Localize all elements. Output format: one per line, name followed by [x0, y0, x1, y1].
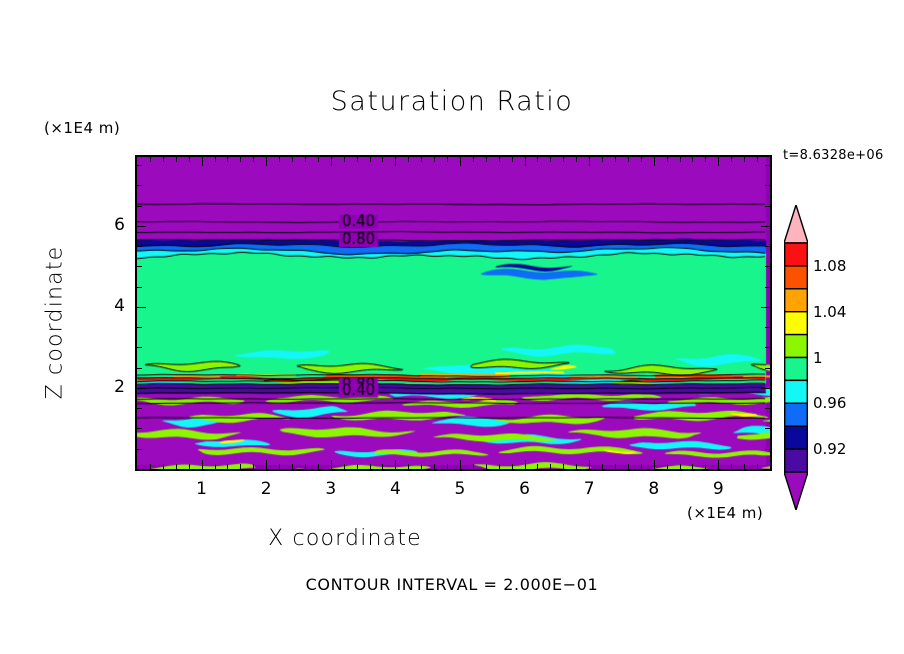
x-minor-tick — [150, 464, 151, 469]
y-minor-tick-right — [765, 206, 770, 207]
x-minor-tick-top — [240, 157, 241, 162]
colorbar-tick-label: 1.08 — [813, 257, 846, 275]
y-minor-tick — [137, 327, 142, 328]
x-minor-tick-top — [641, 157, 642, 162]
colorbar-band — [785, 243, 808, 266]
x-minor-tick-top — [163, 157, 164, 162]
x-major-tick-top — [266, 157, 267, 166]
y-minor-tick — [137, 408, 142, 409]
y-minor-tick-right — [765, 449, 770, 450]
y-major-tick — [137, 388, 146, 389]
x-major-tick — [395, 460, 396, 469]
x-major-tick-top — [589, 157, 590, 166]
x-minor-tick — [253, 464, 254, 469]
y-major-tick-right — [761, 388, 770, 389]
x-minor-tick — [292, 464, 293, 469]
chart-title: Saturation Ratio — [0, 86, 904, 117]
x-major-tick — [266, 460, 267, 469]
x-minor-tick — [382, 464, 383, 469]
x-tick-label: 4 — [375, 479, 415, 499]
y-minor-tick-right — [765, 287, 770, 288]
x-minor-tick-top — [486, 157, 487, 162]
x-minor-tick-top — [421, 157, 422, 162]
colorbar-band — [785, 449, 808, 472]
x-tick-label: 8 — [634, 479, 674, 499]
x-minor-tick-top — [628, 157, 629, 162]
colorbar-band — [785, 335, 808, 358]
y-tick-label: 2 — [95, 377, 125, 397]
y-minor-tick — [137, 287, 142, 288]
x-minor-tick-top — [744, 157, 745, 162]
x-axis-title: X coordinate — [0, 526, 690, 551]
y-axis-title: Z coordinate — [43, 213, 68, 433]
x-minor-tick — [770, 464, 771, 469]
x-minor-tick-top — [357, 157, 358, 162]
x-minor-tick — [176, 464, 177, 469]
colorbar-tick-label: 0.96 — [813, 394, 846, 412]
x-tick-label: 6 — [505, 479, 545, 499]
y-major-tick-right — [761, 307, 770, 308]
colorbar-tick-label: 0.92 — [813, 440, 846, 458]
x-minor-tick-top — [227, 157, 228, 162]
x-major-tick — [202, 460, 203, 469]
x-minor-tick — [486, 464, 487, 469]
colorbar-svg — [784, 205, 808, 510]
x-minor-tick-top — [550, 157, 551, 162]
y-tick-label: 6 — [95, 215, 125, 235]
x-minor-tick-top — [447, 157, 448, 162]
x-minor-tick — [641, 464, 642, 469]
x-tick-label: 9 — [698, 479, 738, 499]
y-minor-tick — [137, 206, 142, 207]
x-minor-tick — [434, 464, 435, 469]
x-tick-label: 7 — [569, 479, 609, 499]
y-axis-unit-label: (×1E4 m) — [44, 119, 120, 137]
x-minor-tick-top — [602, 157, 603, 162]
x-minor-tick-top — [537, 157, 538, 162]
y-minor-tick-right — [765, 327, 770, 328]
x-minor-tick-top — [150, 157, 151, 162]
x-minor-tick — [576, 464, 577, 469]
contour-field-canvas — [137, 157, 770, 469]
contour-interval-caption: CONTOUR INTERVAL = 2.000E−01 — [0, 575, 904, 594]
y-minor-tick-right — [765, 185, 770, 186]
x-minor-tick — [408, 464, 409, 469]
y-major-tick — [137, 226, 146, 227]
x-minor-tick-top — [757, 157, 758, 162]
x-major-tick-top — [395, 157, 396, 166]
x-minor-tick — [550, 464, 551, 469]
x-minor-tick-top — [576, 157, 577, 162]
x-minor-tick-top — [292, 157, 293, 162]
x-minor-tick-top — [176, 157, 177, 162]
x-minor-tick — [731, 464, 732, 469]
time-annotation: t=8.6328e+06 — [783, 148, 884, 163]
x-major-tick-top — [654, 157, 655, 166]
x-major-tick — [460, 460, 461, 469]
y-tick-label: 4 — [95, 296, 125, 316]
x-minor-tick — [215, 464, 216, 469]
x-minor-tick — [473, 464, 474, 469]
x-major-tick-top — [202, 157, 203, 166]
y-minor-tick — [137, 246, 142, 247]
x-major-tick-top — [718, 157, 719, 166]
x-minor-tick — [227, 464, 228, 469]
y-minor-tick-right — [765, 347, 770, 348]
y-minor-tick — [137, 185, 142, 186]
colorbar-band — [785, 403, 808, 426]
x-minor-tick-top — [473, 157, 474, 162]
x-tick-label: 2 — [246, 479, 286, 499]
x-minor-tick-top — [344, 157, 345, 162]
y-minor-tick — [137, 347, 142, 348]
x-minor-tick — [680, 464, 681, 469]
x-minor-tick-top — [512, 157, 513, 162]
x-minor-tick-top — [279, 157, 280, 162]
y-minor-tick-right — [765, 266, 770, 267]
x-minor-tick — [357, 464, 358, 469]
y-major-tick-right — [761, 226, 770, 227]
x-minor-tick-top — [692, 157, 693, 162]
x-minor-tick — [318, 464, 319, 469]
y-minor-tick-right — [765, 165, 770, 166]
x-tick-label: 1 — [182, 479, 222, 499]
x-minor-tick — [705, 464, 706, 469]
contour-plot-area — [135, 155, 772, 471]
x-minor-tick-top — [382, 157, 383, 162]
x-major-tick — [654, 460, 655, 469]
colorbar-tick-label: 1.04 — [813, 303, 846, 321]
x-minor-tick-top — [215, 157, 216, 162]
x-minor-tick — [512, 464, 513, 469]
y-minor-tick — [137, 368, 142, 369]
x-minor-tick-top — [731, 157, 732, 162]
x-minor-tick-top — [615, 157, 616, 162]
y-minor-tick — [137, 266, 142, 267]
x-major-tick-top — [460, 157, 461, 166]
x-minor-tick-top — [253, 157, 254, 162]
x-minor-tick — [305, 464, 306, 469]
x-minor-tick — [499, 464, 500, 469]
x-minor-tick — [757, 464, 758, 469]
x-minor-tick-top — [563, 157, 564, 162]
y-minor-tick — [137, 428, 142, 429]
x-major-tick-top — [525, 157, 526, 166]
colorbar-band — [785, 312, 808, 335]
x-minor-tick-top — [305, 157, 306, 162]
colorbar-band — [785, 266, 808, 289]
x-major-tick — [718, 460, 719, 469]
x-minor-tick-top — [499, 157, 500, 162]
x-minor-tick — [447, 464, 448, 469]
x-minor-tick-top — [189, 157, 190, 162]
x-axis-unit-label: (×1E4 m) — [687, 504, 763, 522]
y-minor-tick — [137, 165, 142, 166]
x-minor-tick-top — [370, 157, 371, 162]
x-minor-tick — [744, 464, 745, 469]
x-major-tick — [589, 460, 590, 469]
x-tick-label: 5 — [440, 479, 480, 499]
x-minor-tick-top — [770, 157, 771, 162]
x-minor-tick — [421, 464, 422, 469]
x-minor-tick — [279, 464, 280, 469]
x-minor-tick-top — [705, 157, 706, 162]
x-minor-tick-top — [318, 157, 319, 162]
x-minor-tick — [537, 464, 538, 469]
y-minor-tick-right — [765, 368, 770, 369]
x-minor-tick — [240, 464, 241, 469]
y-minor-tick-right — [765, 408, 770, 409]
colorbar-band — [785, 289, 808, 312]
colorbar-band — [785, 380, 808, 403]
x-minor-tick — [628, 464, 629, 469]
x-minor-tick — [667, 464, 668, 469]
colorbar-band — [785, 358, 808, 381]
x-minor-tick — [563, 464, 564, 469]
x-minor-tick-top — [408, 157, 409, 162]
y-minor-tick — [137, 449, 142, 450]
colorbar-tick-label: 1 — [813, 349, 823, 367]
figure: Saturation Ratio (×1E4 m) t=8.6328e+06 1… — [0, 0, 904, 654]
x-minor-tick-top — [667, 157, 668, 162]
colorbar — [784, 205, 808, 510]
x-major-tick-top — [331, 157, 332, 166]
x-minor-tick — [189, 464, 190, 469]
colorbar-overflow-cap — [784, 205, 808, 243]
x-major-tick — [331, 460, 332, 469]
colorbar-underflow-cap — [784, 472, 808, 510]
x-minor-tick-top — [680, 157, 681, 162]
x-minor-tick — [163, 464, 164, 469]
x-minor-tick — [615, 464, 616, 469]
y-minor-tick-right — [765, 246, 770, 247]
y-major-tick — [137, 307, 146, 308]
x-minor-tick-top — [434, 157, 435, 162]
x-tick-label: 3 — [311, 479, 351, 499]
x-major-tick — [525, 460, 526, 469]
x-minor-tick — [602, 464, 603, 469]
x-minor-tick — [692, 464, 693, 469]
y-minor-tick-right — [765, 428, 770, 429]
x-minor-tick — [344, 464, 345, 469]
colorbar-band — [785, 426, 808, 449]
x-minor-tick — [370, 464, 371, 469]
